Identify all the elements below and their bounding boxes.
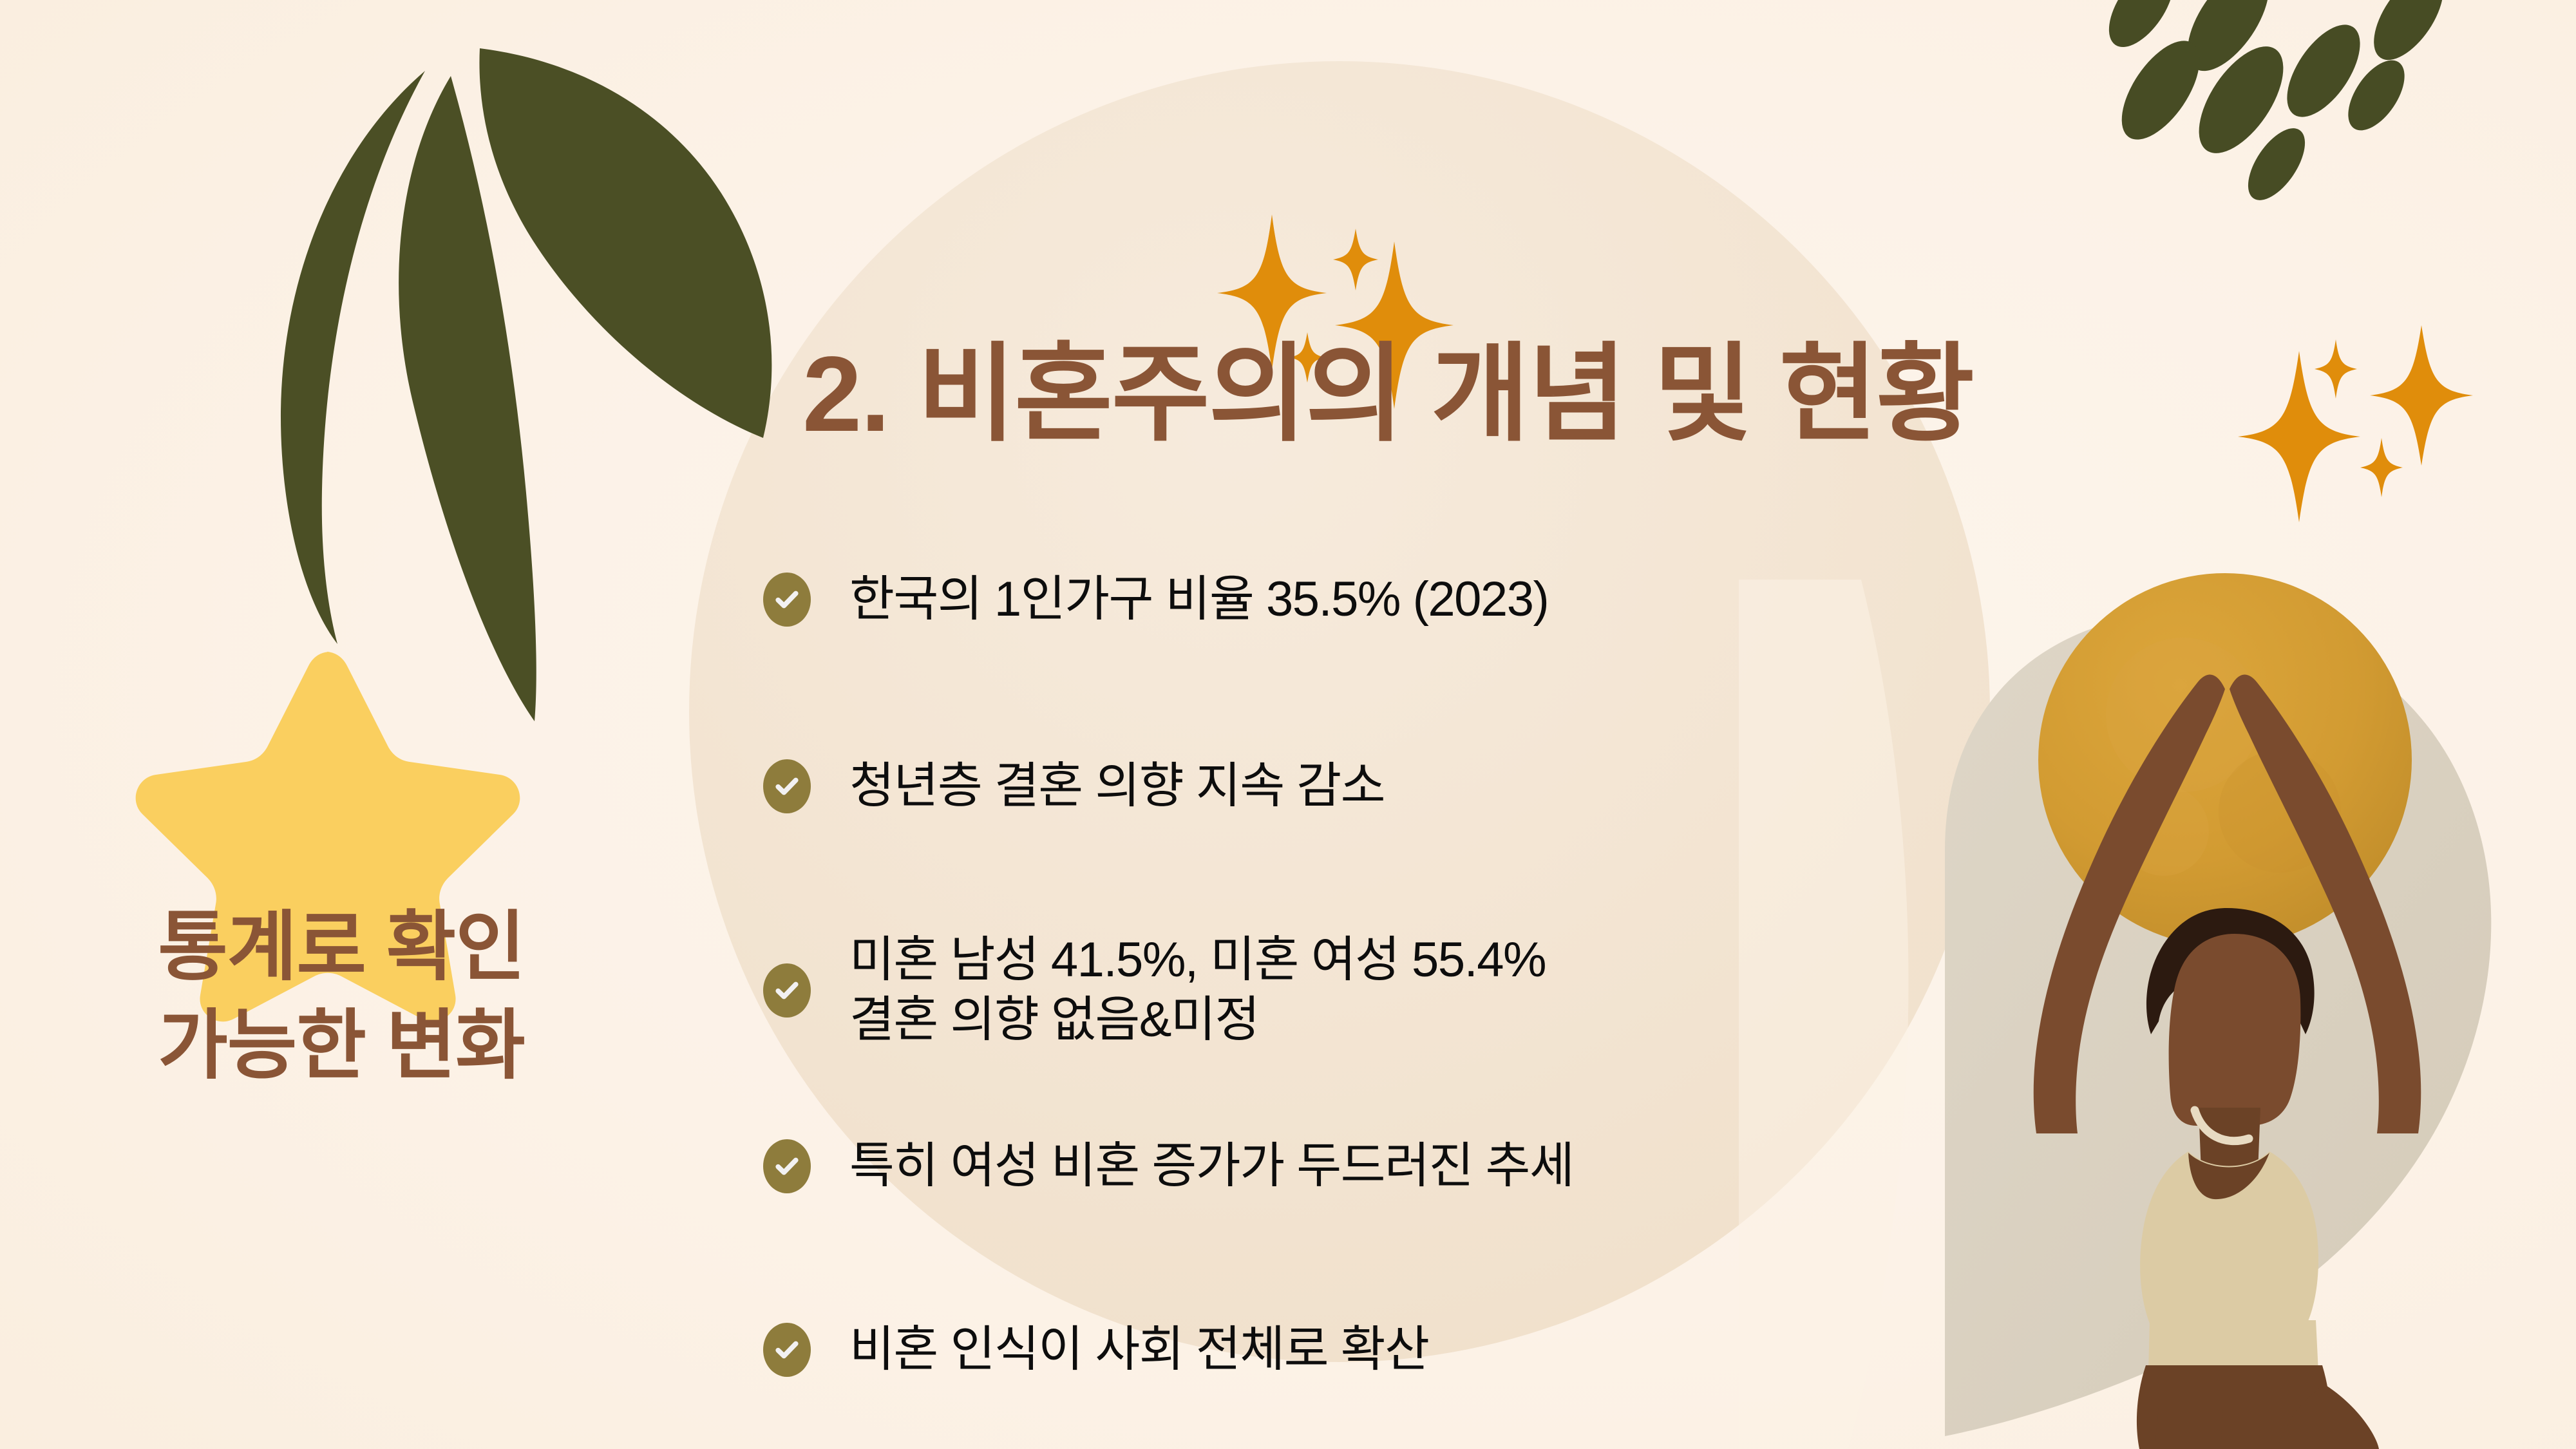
list-item[interactable]: 청년층 결혼 의향 지속 감소 [763,757,1385,817]
check-circle-icon [763,1139,811,1193]
list-item-label: 미혼 남성 41.5%, 미혼 여성 55.4% 결혼 의향 없음&미정 [849,931,1546,1050]
check-circle-icon [763,573,811,627]
check-circle-icon [763,963,811,1018]
list-item-label: 비혼 인식이 사회 전체로 확산 [849,1320,1429,1380]
presentation-slide: 통계로 확인 가능한 변화 2. 비혼주의의 개념 및 현황 한국의 1인가구 … [0,0,2576,1449]
background-decorations [0,0,2576,1449]
page-title: 2. 비혼주의의 개념 및 현황 [631,338,2145,451]
list-item-label: 한국의 1인가구 비율 35.5% (2023) [849,570,1548,630]
list-item[interactable]: 특히 여성 비혼 증가가 두드러진 추세 [763,1137,1573,1197]
list-item[interactable]: 한국의 1인가구 비율 35.5% (2023) [763,570,1548,630]
left-caption: 통계로 확인 가능한 변화 [90,898,592,1096]
list-item[interactable]: 비혼 인식이 사회 전체로 확산 [763,1320,1429,1380]
check-circle-icon [763,759,811,813]
list-item-label: 특히 여성 비혼 증가가 두드러진 추세 [849,1137,1573,1197]
list-item[interactable]: 미혼 남성 41.5%, 미혼 여성 55.4% 결혼 의향 없음&미정 [763,931,1546,1050]
check-circle-icon [763,1323,811,1377]
list-item-label: 청년층 결혼 의향 지속 감소 [849,757,1385,817]
